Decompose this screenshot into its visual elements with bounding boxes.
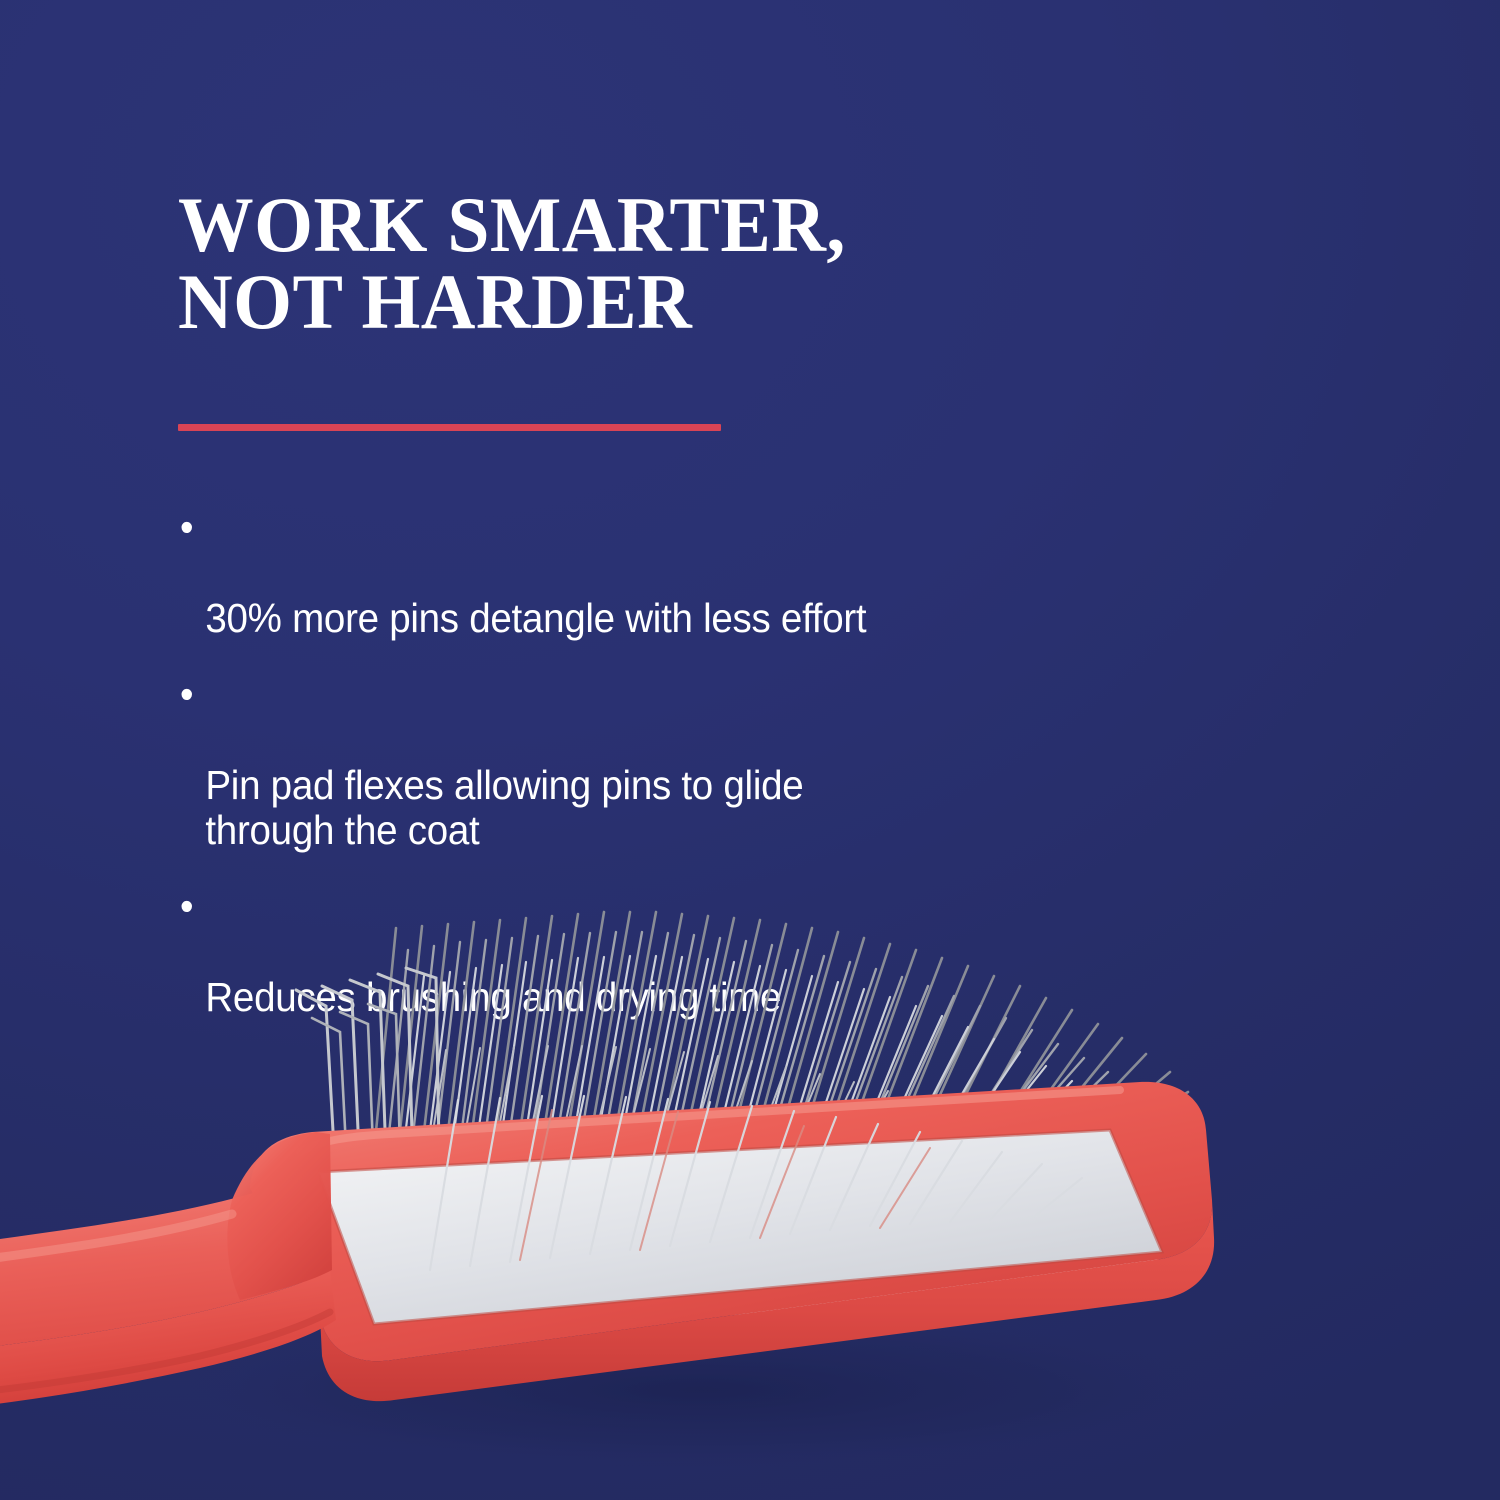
product-feature-poster: WORK SMARTER, NOT HARDER • 30% more pins… <box>0 0 1500 1500</box>
copy-block: WORK SMARTER, NOT HARDER • 30% more pins… <box>178 186 1178 340</box>
slicker-brush-photo <box>0 800 1500 1500</box>
page-title: WORK SMARTER, NOT HARDER <box>178 186 1148 340</box>
red-rule-divider <box>178 424 721 431</box>
bullet-marker-icon: • <box>180 672 193 718</box>
bullet-marker-icon: • <box>180 505 193 551</box>
bullet-text: 30% more pins detangle with less effort <box>205 595 866 641</box>
list-item: • 30% more pins detangle with less effor… <box>180 504 988 642</box>
